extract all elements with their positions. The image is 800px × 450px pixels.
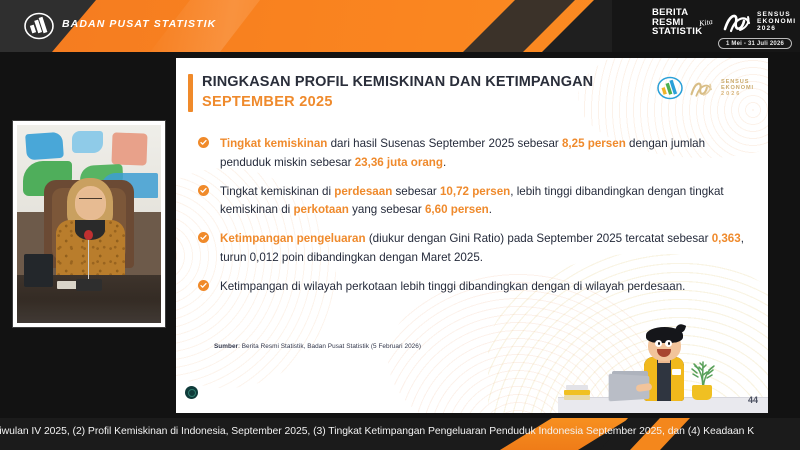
bullet-item: Ketimpangan pengeluaran (diukur dengan G… <box>198 229 754 266</box>
bullet-plain: dari hasil Susenas September 2025 sebesa… <box>327 137 562 150</box>
bullet-text: Ketimpangan di wilayah perkotaan lebih t… <box>220 280 685 293</box>
presentation-slide: RINGKASAN PROFIL KEMISKINAN DAN KETIMPAN… <box>176 58 768 413</box>
bullet-highlight: 0,363 <box>712 232 741 245</box>
bullet-text: Ketimpangan pengeluaran (diukur dengan G… <box>220 232 744 264</box>
bullet-highlight: Tingkat kemiskinan <box>220 137 327 150</box>
wall-art-1 <box>25 132 64 160</box>
bullet-item: Tingkat kemiskinan dari hasil Susenas Se… <box>198 134 754 171</box>
bps-logo-icon <box>24 12 54 40</box>
microphone-stem <box>88 236 90 280</box>
bullet-highlight: perkotaan <box>293 203 348 216</box>
slide-title-line-2: SEPTEMBER 2025 <box>202 94 333 110</box>
slide-sensus-year: 2026 <box>721 91 754 97</box>
mascot-book-3 <box>566 385 588 390</box>
top-banner: BADAN PUSAT STATISTIK BERITA RESMI STATI… <box>0 0 800 52</box>
source-label: Sumber <box>214 343 238 350</box>
bullet-highlight: perdesaan <box>334 185 392 198</box>
bullet-plain: (diukur dengan Gini Ratio) pada Septembe… <box>366 232 712 245</box>
bullet-highlight: 6,60 persen <box>425 203 489 216</box>
wall-art-2 <box>72 131 104 153</box>
source-note: Sumber: Berita Resmi Statistik, Badan Pu… <box>214 343 421 350</box>
mascot-book-2 <box>564 390 590 395</box>
potted-plant-leaves-icon <box>686 355 720 389</box>
check-circle-icon <box>198 232 209 243</box>
title-accent-bar <box>188 74 193 112</box>
microphone-head <box>84 230 93 240</box>
bullet-plain: Ketimpangan di wilayah perkotaan lebih t… <box>220 280 685 293</box>
bps-logo-color-icon <box>657 76 683 100</box>
census-officer-mascot-icon <box>604 321 724 413</box>
sensus-ekonomi-logo-icon <box>689 78 715 99</box>
sensus-year: 2026 <box>757 25 796 32</box>
check-circle-icon <box>198 280 209 291</box>
bullet-highlight: 8,25 persen <box>562 137 626 150</box>
source-text: : Berita Resmi Statistik, Badan Pusat St… <box>238 343 421 350</box>
video-frame <box>17 125 161 323</box>
wall-art-3 <box>111 132 147 165</box>
bullet-plain: Tingkat kemiskinan di <box>220 185 334 198</box>
microphone-base <box>76 279 102 291</box>
mascot-book-1 <box>564 395 590 400</box>
desk-reflection <box>17 299 161 323</box>
news-ticker: riwulan IV 2025, (2) Profil Kemiskinan d… <box>0 418 800 450</box>
broadcast-stage: BADAN PUSAT STATISTIK BERITA RESMI STATI… <box>0 0 800 450</box>
mascot-id-badge <box>672 369 681 375</box>
sensus-line-2: EKONOMI <box>757 18 796 25</box>
speaker-video-feed[interactable] <box>13 121 165 327</box>
bullet-text: Tingkat kemiskinan dari hasil Susenas Se… <box>220 137 705 169</box>
sensus-ekonomi-wordmark: SENSUS EKONOMI 2026 <box>757 11 796 33</box>
slide-logo-group: SENSUS EKONOMI 2026 <box>657 76 754 100</box>
bullet-highlight: Ketimpangan pengeluaran <box>220 232 366 245</box>
bps-seal-icon <box>185 386 198 399</box>
brs-line-3: STATISTIK <box>652 27 714 37</box>
bullet-item: Tingkat kemiskinan di perdesaan sebesar … <box>198 182 754 219</box>
papers-on-desk <box>57 281 77 289</box>
laptop-on-desk <box>24 254 53 288</box>
bullet-plain: . <box>443 156 446 169</box>
bullet-plain: yang sebesar <box>349 203 425 216</box>
speaker-glasses <box>79 198 102 206</box>
bullet-plain: . <box>489 203 492 216</box>
slide-page-number: 44 <box>748 395 758 405</box>
mascot-pupil-left <box>658 342 661 345</box>
berita-resmi-statistik-wordmark: BERITA RESMI STATISTIK Kita <box>652 8 714 37</box>
seal-ring <box>188 389 196 397</box>
slide-title-line-1: RINGKASAN PROFIL KEMISKINAN DAN KETIMPAN… <box>202 74 593 90</box>
mascot-vest-right <box>671 357 684 401</box>
flower-pot <box>692 385 712 400</box>
bullet-text: Tingkat kemiskinan di perdesaan sebesar … <box>220 185 724 217</box>
sensus-date-badge: 1 Mei - 31 Juli 2026 <box>718 38 792 49</box>
bullet-item: Ketimpangan di wilayah perkotaan lebih t… <box>198 277 754 296</box>
check-circle-icon <box>198 185 209 196</box>
organization-name: BADAN PUSAT STATISTIK <box>62 18 216 30</box>
ticker-text: riwulan IV 2025, (2) Profil Kemiskinan d… <box>0 426 800 437</box>
bullet-list: Tingkat kemiskinan dari hasil Susenas Se… <box>198 134 754 306</box>
slide-sensus-wordmark: SENSUS EKONOMI 2026 <box>721 79 754 98</box>
check-circle-icon <box>198 137 209 148</box>
bullet-highlight: 23,36 juta orang <box>355 156 443 169</box>
sensus-line-1: SENSUS <box>757 11 796 18</box>
slide-sensus-line-1: SENSUS <box>721 79 754 85</box>
bullet-highlight: 10,72 persen <box>440 185 510 198</box>
sensus-ekonomi-logo-icon <box>722 9 754 35</box>
mascot-pupil-right <box>668 342 671 345</box>
bullet-plain: sebesar <box>392 185 440 198</box>
